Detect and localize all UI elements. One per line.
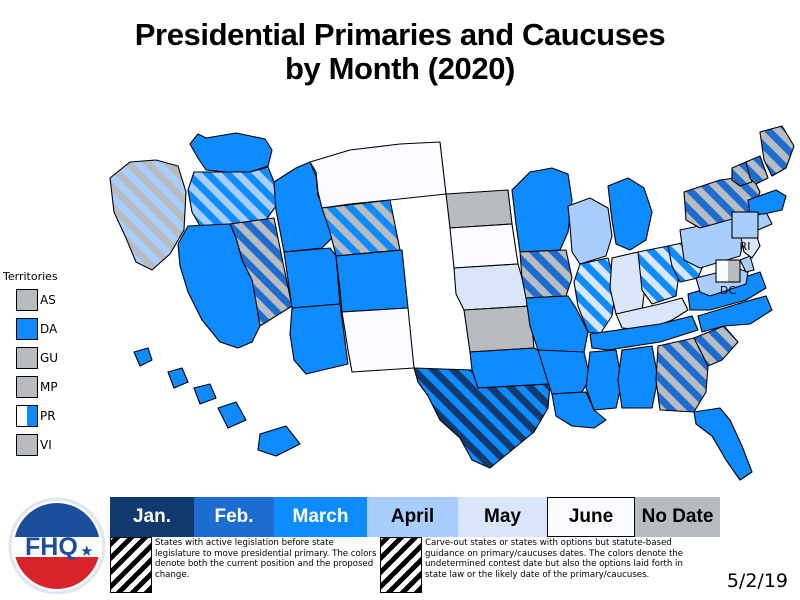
state-mi[interactable]: Michigan — [608, 178, 652, 250]
state-al[interactable]: Alabama — [618, 346, 658, 408]
state-nm[interactable]: New Mexico — [342, 308, 414, 372]
territory-swatch-pr — [16, 405, 38, 427]
title-line-2: by Month (2020) — [0, 52, 800, 86]
territory-label-vi: VI — [40, 438, 52, 452]
territory-swatch-gu — [16, 347, 38, 369]
state-wi[interactable]: Wisconsin — [568, 198, 612, 264]
month-legend-june[interactable]: June — [547, 497, 635, 537]
territory-swatch-as — [16, 289, 38, 311]
inset-box — [732, 212, 758, 238]
date-stamp: 5/2/19 — [727, 570, 788, 592]
month-legend-march[interactable]: March — [274, 497, 367, 537]
territory-label-pr: PR — [40, 409, 56, 423]
state-mn[interactable]: Minnesota — [512, 168, 572, 252]
territory-label-gu: GU — [40, 351, 58, 365]
state-ms[interactable]: Mississippi — [586, 350, 622, 410]
state-ne[interactable]: Nebraska — [454, 264, 530, 310]
inset-half-left — [716, 260, 728, 282]
state-or[interactable]: Oregon — [188, 167, 276, 226]
state-nd[interactable]: North Dakota — [446, 190, 512, 228]
inset-label-dc: DC — [720, 284, 736, 297]
swatch-half-left — [17, 406, 27, 426]
explanation-legislation: States with active legislation before st… — [152, 537, 380, 593]
hatch-swatch-carveout-icon — [380, 537, 422, 593]
fhq-logo-star-icon: ★ — [80, 542, 93, 560]
state-mt[interactable]: Montana — [310, 142, 446, 208]
title-line-1: Presidential Primaries and Caucuses — [0, 18, 800, 52]
page-title: Presidential Primaries and Caucuses by M… — [0, 18, 800, 86]
month-legend-feb[interactable]: Feb. — [194, 497, 274, 537]
month-legend-nodate[interactable]: No Date — [635, 497, 720, 537]
month-legend-may[interactable]: May — [458, 497, 547, 537]
state-az[interactable]: Arizona — [290, 304, 348, 374]
state-ok[interactable]: Oklahoma — [470, 348, 550, 388]
state-co[interactable]: Colorado — [336, 250, 408, 312]
inset-half-right — [728, 260, 740, 282]
territory-swatch-da — [16, 318, 38, 340]
states-layer: WashingtonOregonIdahoMontanaWyomingNevad… — [110, 126, 794, 480]
legend-explanations: States with active legislation before st… — [110, 537, 730, 593]
us-map: WashingtonOregonIdahoMontanaWyomingNevad… — [60, 120, 800, 490]
territory-label-as: AS — [40, 293, 56, 307]
swatch-half-right — [27, 406, 37, 426]
state-ak[interactable]: Alaska — [110, 160, 186, 270]
territory-label-da: DA — [40, 322, 57, 336]
state-fl[interactable]: Florida — [694, 408, 752, 480]
hatch-swatch-legislation-icon — [110, 537, 152, 593]
territory-swatch-mp — [16, 376, 38, 398]
fhq-logo: FHQ ★ — [8, 497, 106, 595]
state-hi[interactable]: Hawaii — [134, 348, 300, 456]
map-infographic: Presidential Primaries and Caucuses by M… — [0, 0, 800, 600]
state-ut[interactable]: Utah — [284, 248, 340, 308]
state-sd[interactable]: South Dakota — [450, 224, 518, 268]
month-legend-april[interactable]: April — [367, 497, 458, 537]
territory-swatch-vi — [16, 434, 38, 456]
month-legend-jan[interactable]: Jan. — [110, 497, 194, 537]
state-wy[interactable]: Wyoming — [322, 200, 400, 256]
explanation-carveout: Carve-out states or states with options … — [422, 537, 690, 593]
state-ks[interactable]: Kansas — [464, 306, 534, 352]
inset-label-ri: RI — [740, 240, 751, 253]
state-wa[interactable]: Washington — [190, 133, 272, 172]
state-ia[interactable]: Iowa — [520, 250, 572, 298]
fhq-logo-text: FHQ — [25, 533, 78, 561]
territory-label-mp: MP — [40, 380, 58, 394]
month-legend: Jan.Feb.MarchAprilMayJuneNo Date — [110, 497, 720, 537]
